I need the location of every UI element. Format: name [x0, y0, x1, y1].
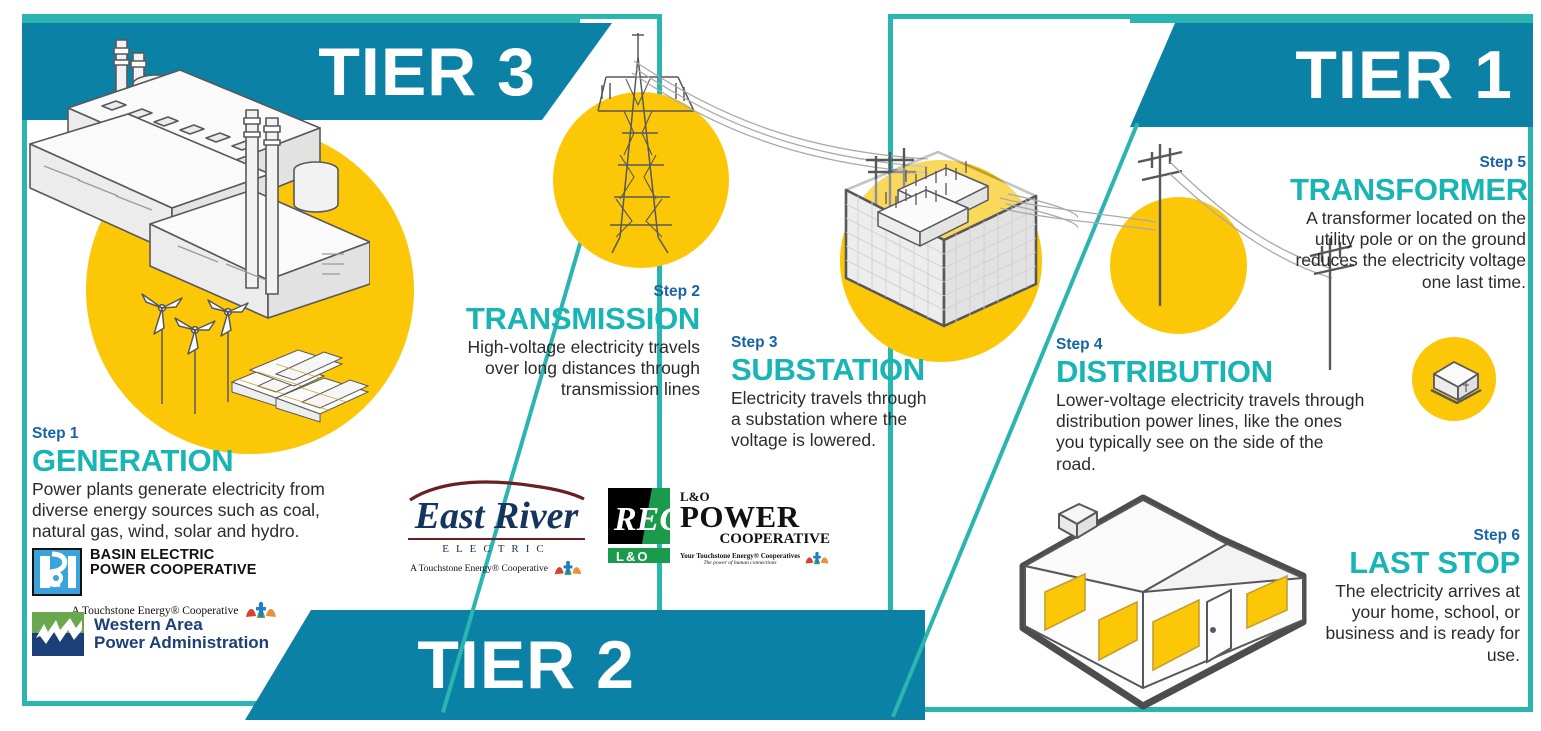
east-river-script: East River — [404, 498, 589, 534]
infographic-canvas: TIER 3 TIER 1 TIER 2 — [0, 0, 1541, 731]
solar-panels-illustration — [228, 330, 378, 440]
last-stop-title: LAST STOP — [1300, 547, 1520, 580]
generation-body: Power plants generate electricity from d… — [32, 479, 362, 543]
tier1-label: TIER 1 — [1295, 41, 1513, 109]
pad-transformer-illustration — [1428, 352, 1484, 408]
tier1-top-accent — [1130, 14, 1533, 23]
step-block-distribution: Step 4 DISTRIBUTION Lower-voltage electr… — [1056, 336, 1386, 475]
rec-big-label: POWER — [680, 503, 830, 532]
touchstone-energy-icon — [553, 561, 583, 576]
transformer-step-label: Step 5 — [1290, 154, 1526, 172]
east-river-electric-logo: East River ELECTRIC A Touchstone Energy®… — [404, 480, 589, 576]
last-stop-step-label: Step 6 — [1300, 527, 1520, 545]
substation-step-label: Step 3 — [731, 334, 961, 352]
distribution-title: DISTRIBUTION — [1056, 356, 1386, 389]
step-block-last-stop: Step 6 LAST STOP The electricity arrives… — [1300, 527, 1520, 666]
last-stop-body: The electricity arrives at your home, sc… — [1300, 581, 1520, 666]
basin-name-line2: POWER COOPERATIVE — [90, 563, 257, 578]
step-block-generation: Step 1 GENERATION Power plants generate … — [32, 425, 412, 543]
rec-tagline2: The power of human connections — [680, 560, 800, 566]
step-block-transformer: Step 5 TRANSFORMER A transformer located… — [1290, 154, 1526, 293]
transmission-body: High-voltage electricity travels over lo… — [440, 337, 700, 401]
svg-text:REC: REC — [613, 501, 672, 538]
generation-step-label: Step 1 — [32, 425, 412, 443]
east-river-tagline: A Touchstone Energy® Cooperative — [410, 564, 548, 574]
wapa-mark — [32, 612, 84, 656]
basin-electric-logo: BASIN ELECTRIC POWER COOPERATIVE A Touch… — [32, 548, 292, 619]
transmission-step-label: Step 2 — [440, 283, 700, 301]
rec-lo-mark: REC L&O — [606, 488, 672, 564]
substation-title: SUBSTATION — [731, 354, 961, 387]
basin-electric-mark — [32, 548, 82, 596]
distribution-body: Lower-voltage electricity travels throug… — [1056, 390, 1368, 475]
step-block-transmission: Step 2 TRANSMISSION High-voltage electri… — [440, 283, 700, 401]
wapa-logo: Western Area Power Administration — [32, 612, 292, 656]
distribution-step-label: Step 4 — [1056, 336, 1386, 354]
svg-text:L&O: L&O — [616, 549, 649, 564]
transformer-body: A transformer located on the utility pol… — [1290, 208, 1526, 293]
substation-body: Electricity travels through a substation… — [731, 388, 936, 452]
wapa-line2: Power Administration — [94, 634, 269, 652]
generation-title: GENERATION — [32, 445, 412, 478]
transformer-title: TRANSFORMER — [1290, 174, 1526, 207]
step-block-substation: Step 3 SUBSTATION Electricity travels th… — [731, 334, 961, 452]
rec-lo-power-cooperative-logo: REC L&O L&O POWER COOPERATIVE Your Touch… — [606, 488, 831, 566]
rec-tagline: Your Touchstone Energy® Cooperatives — [680, 552, 800, 560]
house-illustration — [1003, 470, 1333, 715]
basin-name-line1: BASIN ELECTRIC — [90, 548, 257, 563]
tier1-banner-label-wrap: TIER 1 — [1130, 23, 1533, 127]
touchstone-energy-icon — [804, 552, 830, 565]
transmission-title: TRANSMISSION — [440, 303, 700, 336]
east-river-word: ELECTRIC — [404, 543, 589, 555]
wapa-line1: Western Area — [94, 616, 269, 634]
